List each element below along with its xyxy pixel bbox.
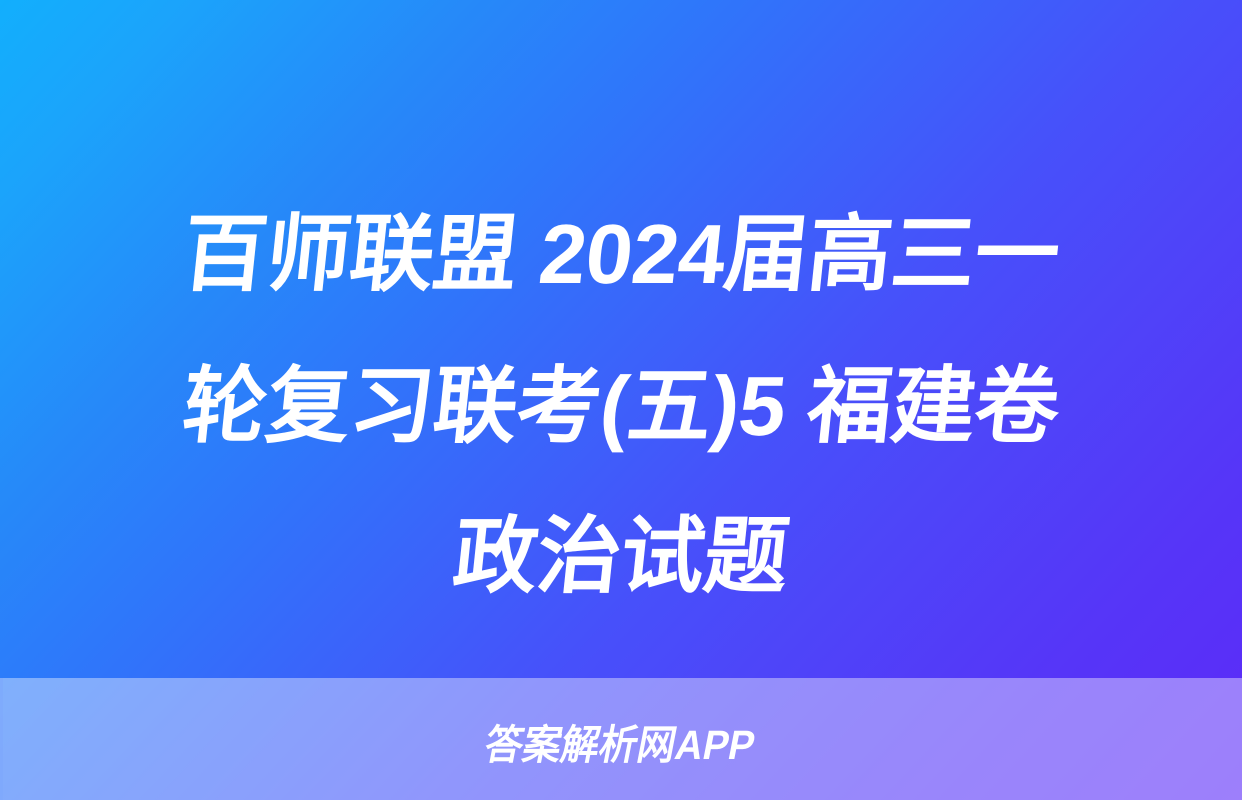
title-line-1: 百师联盟 2024届高三一 — [38, 178, 1204, 330]
title-line-2: 轮复习联考(五)5 福建卷 — [38, 330, 1204, 482]
title-line-3: 政治试题 — [38, 482, 1204, 630]
poster-canvas: 百师联盟 2024届高三一 轮复习联考(五)5 福建卷 政治试题 答案解析网AP… — [0, 0, 1242, 800]
watermark-label: 答案解析网APP — [481, 711, 762, 771]
page-title: 百师联盟 2024届高三一 轮复习联考(五)5 福建卷 政治试题 — [0, 178, 1242, 630]
footer-watermark-band: 答案解析网APP — [0, 678, 1242, 800]
